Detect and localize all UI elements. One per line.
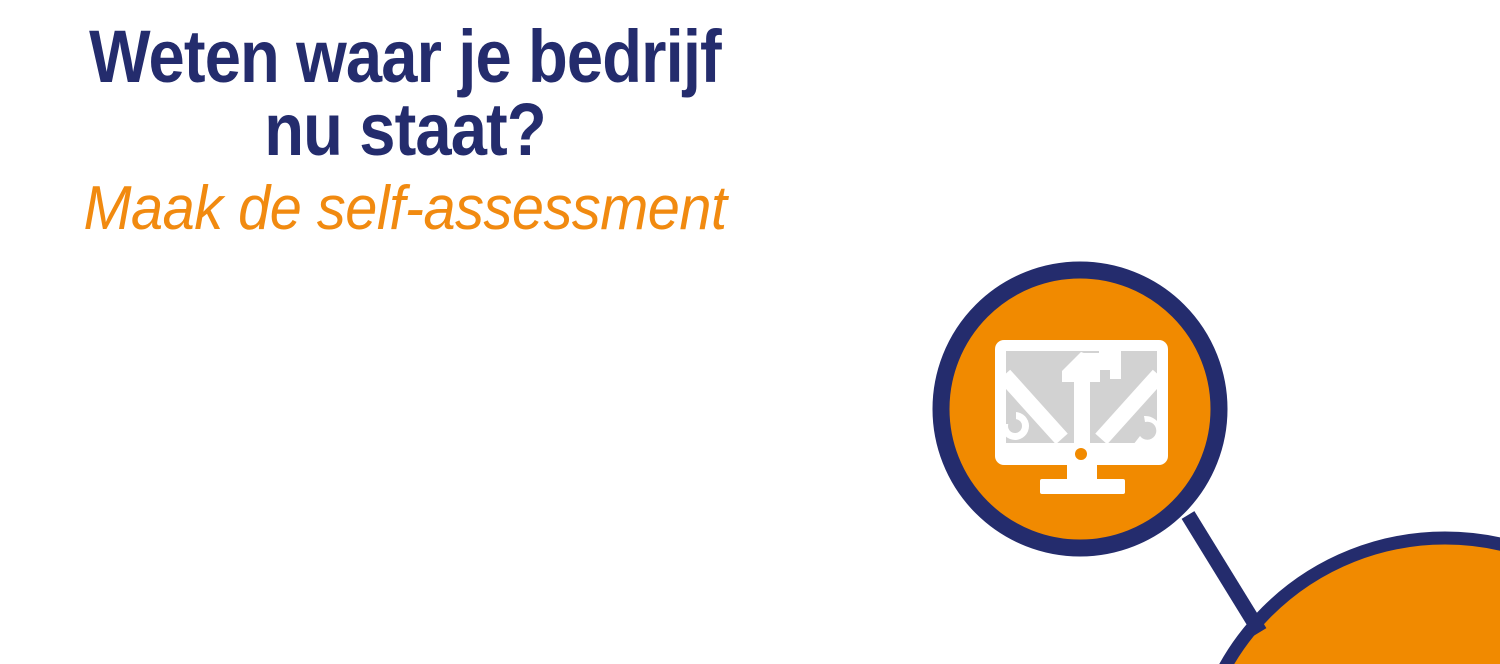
page-title-line-2: nu staat? bbox=[49, 93, 762, 166]
monitor-stand-neck bbox=[1067, 465, 1097, 479]
magnifier-illustration bbox=[900, 240, 1500, 664]
page-title-line-1: Weten waar je bedrijf bbox=[49, 0, 762, 93]
call-to-action-text: Maak de self-assessment bbox=[28, 166, 781, 244]
monitor-stand-base bbox=[1040, 479, 1125, 494]
banner: Weten waar je bedrijf nu staat? Maak de … bbox=[0, 0, 1500, 664]
magnifier-handle-icon bbox=[1188, 515, 1260, 632]
headline-block: Weten waar je bedrijf nu staat? Maak de … bbox=[0, 0, 810, 270]
monitor-power-dot-icon bbox=[1075, 448, 1087, 460]
